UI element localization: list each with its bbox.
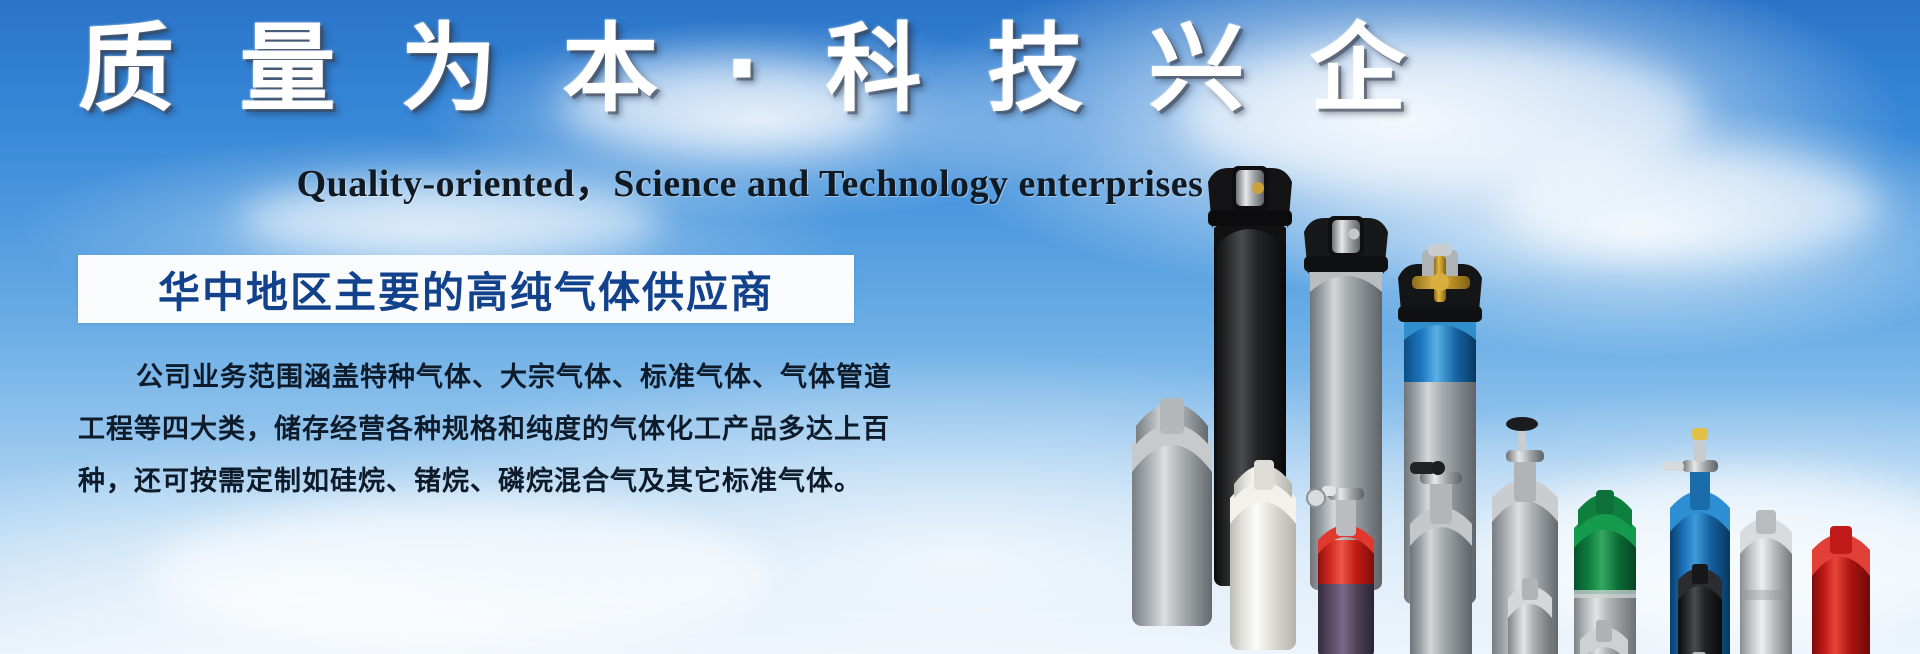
slogan-text: 华中地区主要的高纯气体供应商: [158, 259, 774, 320]
gas-cylinders-image: [1122, 150, 1920, 654]
white-cylinder: [1230, 460, 1296, 650]
red-aluminium-cylinder: [1812, 526, 1870, 654]
headline-text: 质 量 为 本 · 科 技 兴 企: [78, 18, 1422, 122]
tall-grey-cylinder-left: [1132, 398, 1212, 626]
cloud-wisp-bottom-left: [150, 500, 770, 650]
black-small-cylinder: [1678, 564, 1722, 654]
headline-wrap: 质 量 为 本 · 科 技 兴 企: [0, 18, 1500, 122]
description-line-1: 公司业务范围涵盖特种气体、大宗气体、标准气体、气体管道: [78, 352, 868, 404]
description-line-3: 种，还可按需定制如硅烷、锗烷、磷烷混合气及其它标准气体。: [78, 456, 868, 508]
silver-aluminium-cylinder: [1740, 510, 1792, 654]
slogan-box: 华中地区主要的高纯气体供应商: [78, 255, 854, 323]
promo-banner: 质 量 为 本 · 科 技 兴 企 Quality-oriented，Scien…: [0, 0, 1920, 654]
description-paragraph: 公司业务范围涵盖特种气体、大宗气体、标准气体、气体管道 工程等四大类，储存经营各…: [78, 352, 868, 508]
description-line-2: 工程等四大类，储存经营各种规格和纯度的气体化工产品多达上百: [78, 404, 868, 456]
